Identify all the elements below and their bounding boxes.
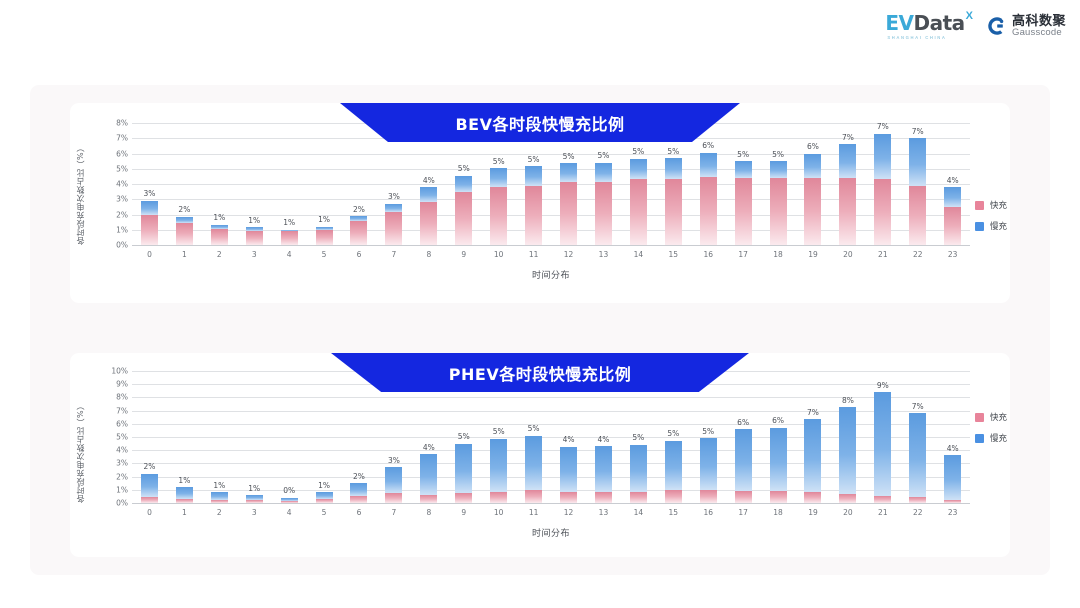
bar-segment-fast-charge[interactable]	[350, 221, 367, 245]
legend-item-fast[interactable]: 快充	[975, 411, 1007, 423]
bar-value-label: 1%	[318, 216, 330, 224]
bar-value-label: 1%	[213, 214, 225, 222]
evdata-logo: EVData X SHANGHAI CHINA	[885, 13, 973, 40]
stacked-bar[interactable]	[490, 439, 507, 503]
bar-slot[interactable]: 2%	[342, 123, 377, 245]
x-tick-label: 15	[656, 251, 691, 259]
bar-segment-slow-charge[interactable]	[909, 413, 926, 497]
bar-segment-fast-charge[interactable]	[490, 492, 507, 503]
stacked-bar[interactable]	[874, 392, 891, 503]
bar-segment-fast-charge[interactable]	[804, 178, 821, 245]
x-tick-label: 23	[935, 251, 970, 259]
x-tick-label: 21	[865, 509, 900, 517]
content-panel: BEV各时段快慢充比例 各时段充电次数占比（%） 0%1%2%3%4%5%6%7…	[30, 85, 1050, 575]
y-tick-label: 4%	[116, 446, 128, 454]
bar-slot[interactable]: 2%	[342, 371, 377, 503]
bar-slot[interactable]: 6%	[761, 371, 796, 503]
bar-slot[interactable]: 4%	[935, 123, 970, 245]
y-tick-label: 9%	[116, 380, 128, 388]
x-axis-line	[132, 245, 970, 246]
bar-value-label: 1%	[318, 482, 330, 490]
bar-segment-fast-charge[interactable]	[350, 496, 367, 503]
x-tick-label: 10	[481, 509, 516, 517]
bar-slot[interactable]: 1%	[237, 123, 272, 245]
stacked-bar[interactable]	[770, 428, 787, 503]
bar-value-label: 8%	[842, 397, 854, 405]
x-tick-label: 19	[796, 251, 831, 259]
bar-segment-fast-charge[interactable]	[874, 496, 891, 503]
bar-segment-slow-charge[interactable]	[839, 407, 856, 493]
bar-segment-slow-charge[interactable]	[944, 455, 961, 499]
stacked-bar[interactable]	[281, 498, 298, 503]
bar-segment-fast-charge[interactable]	[246, 231, 263, 245]
bar-value-label: 5%	[632, 148, 644, 156]
bev-y-axis-label: 各时段充电次数占比（%）	[75, 123, 86, 245]
bar-value-label: 5%	[528, 425, 540, 433]
x-tick-label: 11	[516, 251, 551, 259]
bar-value-label: 4%	[423, 444, 435, 452]
bar-value-label: 2%	[178, 206, 190, 214]
stacked-bar[interactable]	[804, 154, 821, 245]
stacked-bar[interactable]	[665, 158, 682, 245]
bar-slot[interactable]: 7%	[796, 371, 831, 503]
bar-segment-fast-charge[interactable]	[770, 178, 787, 245]
bev-chart-title: BEV各时段快慢充比例	[455, 111, 624, 135]
bar-segment-fast-charge[interactable]	[735, 491, 752, 503]
bar-segment-fast-charge[interactable]	[630, 179, 647, 245]
bar-value-label: 4%	[563, 436, 575, 444]
bar-value-label: 1%	[248, 485, 260, 493]
stacked-bar[interactable]	[560, 163, 577, 245]
bar-segment-fast-charge[interactable]	[839, 178, 856, 245]
stacked-bar[interactable]	[839, 144, 856, 245]
bar-value-label: 5%	[667, 148, 679, 156]
bar-value-label: 6%	[772, 417, 784, 425]
legend-label-fast: 快充	[990, 199, 1007, 211]
y-tick-label: 10%	[111, 367, 128, 375]
bar-value-label: 1%	[213, 482, 225, 490]
stacked-bar[interactable]	[909, 413, 926, 503]
phev-title-banner: PHEV各时段快慢充比例	[331, 353, 749, 392]
bar-value-label: 5%	[597, 152, 609, 160]
bar-value-label: 7%	[842, 134, 854, 142]
bar-segment-fast-charge[interactable]	[874, 179, 891, 245]
bar-segment-slow-charge[interactable]	[455, 176, 472, 193]
x-tick-label: 17	[726, 251, 761, 259]
bar-segment-fast-charge[interactable]	[909, 186, 926, 245]
stacked-bar[interactable]	[211, 492, 228, 503]
legend-swatch-fast-icon	[975, 201, 984, 210]
bar-segment-slow-charge[interactable]	[735, 429, 752, 491]
x-tick-label: 5	[307, 509, 342, 517]
gausscode-cn-name: 高科数聚	[1012, 15, 1066, 29]
bar-segment-fast-charge[interactable]	[770, 491, 787, 503]
x-tick-label: 11	[516, 509, 551, 517]
legend-item-fast[interactable]: 快充	[975, 199, 1007, 211]
stacked-bar[interactable]	[595, 446, 612, 503]
stacked-bar[interactable]	[909, 138, 926, 245]
stacked-bar[interactable]	[525, 166, 542, 245]
evdata-ev-text: EV	[885, 11, 913, 35]
bar-segment-fast-charge[interactable]	[665, 490, 682, 503]
bar-segment-fast-charge[interactable]	[909, 497, 926, 503]
bar-value-label: 5%	[563, 153, 575, 161]
bar-slot[interactable]: 6%	[691, 123, 726, 245]
bar-slot[interactable]: 1%	[202, 371, 237, 503]
stacked-bar[interactable]	[141, 474, 158, 503]
bar-slot[interactable]: 4%	[935, 371, 970, 503]
x-tick-label: 0	[132, 509, 167, 517]
bar-slot[interactable]: 1%	[202, 123, 237, 245]
bar-segment-fast-charge[interactable]	[420, 495, 437, 503]
header-logos: EVData X SHANGHAI CHINA 高科数聚 Gausscode	[885, 13, 1066, 40]
bar-segment-slow-charge[interactable]	[525, 436, 542, 491]
gausscode-mark-icon	[987, 16, 1007, 36]
bar-value-label: 5%	[632, 434, 644, 442]
bar-value-label: 5%	[458, 165, 470, 173]
x-tick-label: 8	[411, 509, 446, 517]
bar-value-label: 1%	[178, 477, 190, 485]
stacked-bar[interactable]	[420, 187, 437, 245]
stacked-bar[interactable]	[630, 445, 647, 503]
bar-segment-fast-charge[interactable]	[281, 501, 298, 503]
legend-swatch-slow-icon	[975, 434, 984, 443]
bar-slot[interactable]: 1%	[237, 371, 272, 503]
slide-page: EVData X SHANGHAI CHINA 高科数聚 Gausscode	[0, 0, 1080, 608]
stacked-bar[interactable]	[700, 153, 717, 245]
bev-x-tick-labels: 01234567891011121314151617181920212223	[132, 251, 970, 259]
x-tick-label: 2	[202, 509, 237, 517]
x-tick-label: 10	[481, 251, 516, 259]
bar-segment-slow-charge[interactable]	[909, 138, 926, 185]
legend-label-slow: 慢充	[990, 432, 1007, 444]
bar-value-label: 6%	[807, 143, 819, 151]
stacked-bar[interactable]	[560, 447, 577, 503]
phev-legend: 快充 慢充	[975, 411, 1007, 444]
bar-value-label: 5%	[772, 151, 784, 159]
bar-segment-slow-charge[interactable]	[141, 474, 158, 497]
stacked-bar[interactable]	[316, 227, 333, 245]
bar-segment-fast-charge[interactable]	[420, 202, 437, 245]
bar-segment-fast-charge[interactable]	[665, 179, 682, 245]
x-tick-label: 18	[761, 509, 796, 517]
bar-segment-fast-charge[interactable]	[455, 192, 472, 245]
stacked-bar[interactable]	[281, 230, 298, 245]
x-tick-label: 8	[411, 251, 446, 259]
y-tick-label: 2%	[116, 211, 128, 219]
bar-segment-slow-charge[interactable]	[839, 144, 856, 178]
bar-value-label: 7%	[807, 409, 819, 417]
y-tick-label: 0%	[116, 241, 128, 249]
x-tick-label: 20	[830, 509, 865, 517]
bar-segment-slow-charge[interactable]	[316, 492, 333, 499]
stacked-bar[interactable]	[350, 216, 367, 245]
bar-slot[interactable]: 2%	[132, 371, 167, 503]
evdata-subtitle: SHANGHAI CHINA	[887, 35, 946, 40]
bar-segment-fast-charge[interactable]	[385, 212, 402, 245]
x-tick-label: 1	[167, 251, 202, 259]
bar-segment-slow-charge[interactable]	[874, 134, 891, 180]
bar-segment-slow-charge[interactable]	[420, 187, 437, 201]
bar-value-label: 9%	[877, 382, 889, 390]
bar-segment-slow-charge[interactable]	[595, 446, 612, 492]
bar-segment-fast-charge[interactable]	[595, 492, 612, 503]
x-tick-label: 16	[691, 509, 726, 517]
bar-segment-slow-charge[interactable]	[665, 441, 682, 490]
bev-chart-card: BEV各时段快慢充比例 各时段充电次数占比（%） 0%1%2%3%4%5%6%7…	[70, 103, 1010, 303]
y-tick-label: 8%	[116, 119, 128, 127]
bar-segment-slow-charge[interactable]	[176, 487, 193, 499]
x-tick-label: 12	[551, 251, 586, 259]
bar-segment-fast-charge[interactable]	[804, 492, 821, 503]
bar-segment-slow-charge[interactable]	[490, 439, 507, 492]
bar-segment-slow-charge[interactable]	[804, 154, 821, 178]
stacked-bar[interactable]	[770, 161, 787, 245]
bar-value-label: 0%	[283, 487, 295, 495]
bar-slot[interactable]: 8%	[830, 371, 865, 503]
bar-slot[interactable]: 0%	[272, 371, 307, 503]
x-tick-label: 7	[376, 509, 411, 517]
bev-title-banner: BEV各时段快慢充比例	[340, 103, 740, 142]
stacked-bar[interactable]	[595, 163, 612, 245]
bar-slot[interactable]: 2%	[167, 123, 202, 245]
bar-value-label: 3%	[388, 457, 400, 465]
bar-segment-slow-charge[interactable]	[630, 445, 647, 492]
bar-segment-slow-charge[interactable]	[874, 392, 891, 496]
bar-value-label: 4%	[423, 177, 435, 185]
stacked-bar[interactable]	[211, 225, 228, 245]
bar-slot[interactable]: 5%	[726, 123, 761, 245]
legend-swatch-fast-icon	[975, 413, 984, 422]
bar-segment-slow-charge[interactable]	[420, 454, 437, 495]
stacked-bar[interactable]	[804, 419, 821, 503]
bar-segment-fast-charge[interactable]	[316, 230, 333, 245]
x-tick-label: 19	[796, 509, 831, 517]
bar-value-label: 6%	[737, 419, 749, 427]
x-tick-label: 18	[761, 251, 796, 259]
y-tick-label: 1%	[116, 486, 128, 494]
gausscode-en-name: Gausscode	[1012, 28, 1066, 38]
legend-label-fast: 快充	[990, 411, 1007, 423]
y-tick-label: 7%	[116, 135, 128, 143]
y-tick-label: 7%	[116, 407, 128, 415]
bar-segment-fast-charge[interactable]	[944, 207, 961, 245]
bar-slot[interactable]: 7%	[865, 123, 900, 245]
x-tick-label: 4	[272, 509, 307, 517]
gausscode-text: 高科数聚 Gausscode	[1012, 15, 1066, 39]
bar-segment-fast-charge[interactable]	[595, 182, 612, 245]
bar-segment-slow-charge[interactable]	[804, 419, 821, 492]
phev-x-axis-label: 时间分布	[132, 526, 970, 539]
bev-legend: 快充 慢充	[975, 199, 1007, 232]
bar-segment-slow-charge[interactable]	[385, 204, 402, 212]
bar-segment-slow-charge[interactable]	[490, 168, 507, 187]
bar-value-label: 2%	[353, 473, 365, 481]
y-tick-label: 4%	[116, 180, 128, 188]
bar-segment-slow-charge[interactable]	[700, 153, 717, 177]
x-tick-label: 13	[586, 251, 621, 259]
stacked-bar[interactable]	[630, 159, 647, 245]
y-tick-label: 5%	[116, 433, 128, 441]
stacked-bar[interactable]	[246, 495, 263, 503]
bar-segment-fast-charge[interactable]	[211, 229, 228, 245]
x-tick-label: 9	[446, 509, 481, 517]
stacked-bar[interactable]	[455, 444, 472, 503]
bar-segment-fast-charge[interactable]	[211, 500, 228, 503]
x-tick-label: 3	[237, 509, 272, 517]
bar-segment-slow-charge[interactable]	[455, 444, 472, 494]
bar-slot[interactable]: 1%	[272, 123, 307, 245]
bar-slot[interactable]: 5%	[761, 123, 796, 245]
stacked-bar[interactable]	[385, 467, 402, 503]
stacked-bar[interactable]	[246, 227, 263, 245]
bar-segment-fast-charge[interactable]	[700, 177, 717, 245]
evdata-superscript-x: X	[966, 11, 973, 22]
stacked-bar[interactable]	[141, 201, 158, 245]
legend-item-slow[interactable]: 慢充	[975, 220, 1007, 232]
bar-value-label: 1%	[283, 219, 295, 227]
bar-segment-slow-charge[interactable]	[350, 483, 367, 496]
stacked-bar[interactable]	[665, 441, 682, 503]
stacked-bar[interactable]	[944, 187, 961, 245]
bar-value-label: 4%	[947, 177, 959, 185]
bar-segment-slow-charge[interactable]	[700, 438, 717, 490]
x-tick-label: 1	[167, 509, 202, 517]
bar-slot[interactable]: 1%	[307, 371, 342, 503]
bar-segment-slow-charge[interactable]	[944, 187, 961, 207]
stacked-bar[interactable]	[735, 429, 752, 503]
bar-segment-slow-charge[interactable]	[560, 163, 577, 182]
bar-segment-fast-charge[interactable]	[281, 231, 298, 245]
bar-segment-fast-charge[interactable]	[455, 493, 472, 503]
y-tick-label: 5%	[116, 165, 128, 173]
y-tick-label: 1%	[116, 226, 128, 234]
bar-segment-fast-charge[interactable]	[700, 490, 717, 503]
x-tick-label: 3	[237, 251, 272, 259]
bar-value-label: 5%	[493, 428, 505, 436]
stacked-bar[interactable]	[944, 455, 961, 503]
stacked-bar[interactable]	[490, 168, 507, 245]
bar-segment-fast-charge[interactable]	[316, 499, 333, 503]
x-tick-label: 9	[446, 251, 481, 259]
bar-value-label: 4%	[947, 445, 959, 453]
bar-segment-slow-charge[interactable]	[630, 159, 647, 179]
y-tick-label: 0%	[116, 499, 128, 507]
bar-value-label: 5%	[702, 428, 714, 436]
bar-segment-fast-charge[interactable]	[525, 490, 542, 503]
bar-segment-slow-charge[interactable]	[735, 161, 752, 178]
stacked-bar[interactable]	[874, 134, 891, 245]
bar-slot[interactable]: 3%	[132, 123, 167, 245]
bar-segment-fast-charge[interactable]	[525, 186, 542, 245]
bar-value-label: 3%	[144, 190, 156, 198]
evdata-data-text: Data	[913, 11, 964, 35]
phev-y-axis-label: 各时段充电次数占比（%）	[75, 371, 86, 503]
bar-segment-slow-charge[interactable]	[525, 166, 542, 186]
bar-segment-slow-charge[interactable]	[385, 467, 402, 493]
stacked-bar[interactable]	[350, 483, 367, 503]
stacked-bar[interactable]	[455, 176, 472, 245]
x-tick-label: 5	[307, 251, 342, 259]
x-tick-label: 6	[342, 251, 377, 259]
bar-segment-slow-charge[interactable]	[595, 163, 612, 182]
bar-segment-slow-charge[interactable]	[211, 492, 228, 499]
bar-value-label: 2%	[353, 206, 365, 214]
bar-segment-fast-charge[interactable]	[246, 500, 263, 503]
bar-segment-fast-charge[interactable]	[944, 500, 961, 503]
bev-x-axis-label: 时间分布	[132, 268, 970, 281]
bar-segment-slow-charge[interactable]	[770, 428, 787, 491]
x-tick-label: 0	[132, 251, 167, 259]
bar-slot[interactable]: 6%	[796, 123, 831, 245]
bar-slot[interactable]: 1%	[307, 123, 342, 245]
stacked-bar[interactable]	[420, 454, 437, 503]
bar-slot[interactable]: 6%	[726, 371, 761, 503]
x-tick-label: 14	[621, 251, 656, 259]
bar-segment-slow-charge[interactable]	[141, 201, 158, 215]
stacked-bar[interactable]	[700, 438, 717, 503]
bar-segment-slow-charge[interactable]	[770, 161, 787, 178]
bar-segment-fast-charge[interactable]	[176, 499, 193, 503]
bar-segment-fast-charge[interactable]	[560, 492, 577, 503]
x-tick-label: 17	[726, 509, 761, 517]
x-tick-label: 16	[691, 251, 726, 259]
gausscode-logo: 高科数聚 Gausscode	[987, 15, 1066, 39]
bar-value-label: 5%	[528, 156, 540, 164]
bar-value-label: 3%	[388, 193, 400, 201]
bar-segment-fast-charge[interactable]	[560, 182, 577, 245]
bar-slot[interactable]: 7%	[900, 123, 935, 245]
bar-segment-slow-charge[interactable]	[560, 447, 577, 493]
bar-segment-fast-charge[interactable]	[176, 223, 193, 245]
bar-slot[interactable]: 1%	[167, 371, 202, 503]
stacked-bar[interactable]	[525, 436, 542, 503]
stacked-bar[interactable]	[176, 217, 193, 245]
bar-segment-fast-charge[interactable]	[141, 497, 158, 503]
bar-segment-fast-charge[interactable]	[839, 494, 856, 503]
bar-value-label: 4%	[597, 436, 609, 444]
y-tick-label: 3%	[116, 460, 128, 468]
bar-segment-fast-charge[interactable]	[141, 215, 158, 245]
bar-segment-fast-charge[interactable]	[630, 492, 647, 503]
y-tick-label: 2%	[116, 473, 128, 481]
bar-slot[interactable]: 9%	[865, 371, 900, 503]
x-tick-label: 15	[656, 509, 691, 517]
bar-slot[interactable]: 7%	[830, 123, 865, 245]
stacked-bar[interactable]	[316, 492, 333, 503]
bar-value-label: 7%	[912, 128, 924, 136]
bar-value-label: 5%	[737, 151, 749, 159]
x-tick-label: 6	[342, 509, 377, 517]
stacked-bar[interactable]	[735, 161, 752, 245]
x-tick-label: 2	[202, 251, 237, 259]
bar-segment-slow-charge[interactable]	[665, 158, 682, 179]
legend-item-slow[interactable]: 慢充	[975, 432, 1007, 444]
y-tick-label: 8%	[116, 394, 128, 402]
stacked-bar[interactable]	[839, 407, 856, 503]
bar-segment-fast-charge[interactable]	[490, 187, 507, 245]
stacked-bar[interactable]	[385, 204, 402, 245]
bar-slot[interactable]: 7%	[900, 371, 935, 503]
y-tick-label: 6%	[116, 420, 128, 428]
x-tick-label: 22	[900, 251, 935, 259]
x-axis-line	[132, 503, 970, 504]
x-tick-label: 20	[830, 251, 865, 259]
stacked-bar[interactable]	[176, 487, 193, 503]
bar-value-label: 6%	[702, 142, 714, 150]
bar-segment-fast-charge[interactable]	[385, 493, 402, 503]
bar-segment-fast-charge[interactable]	[735, 178, 752, 245]
